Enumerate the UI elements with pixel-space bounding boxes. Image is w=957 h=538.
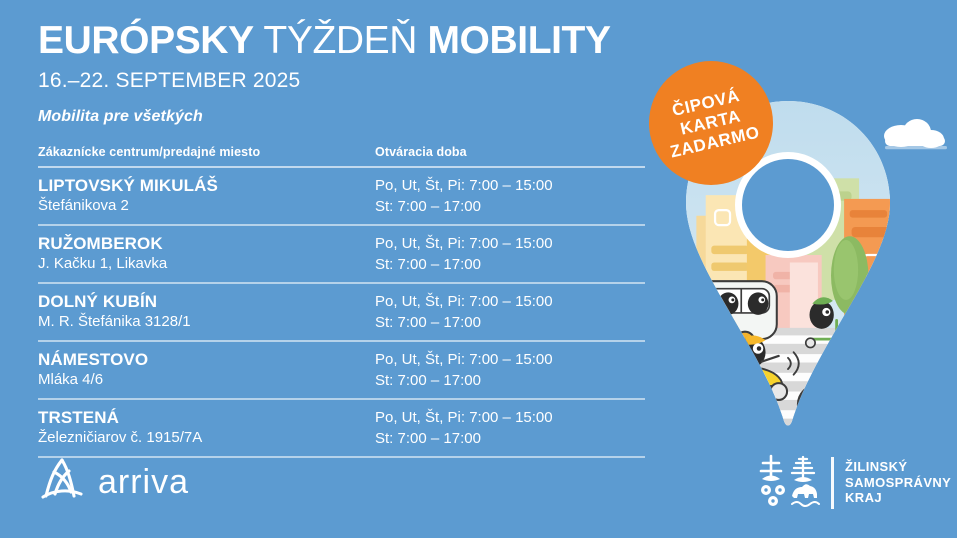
location-address: Štefánikova 2 [38,196,375,216]
zsk-wordmark: ŽILINSKÝ SAMOSPRÁVNY KRAJ [845,459,951,506]
location-name: NÁMESTOVO [38,349,375,370]
hours-cell: Po, Ut, Št, Pi: 7:00 – 15:00St: 7:00 – 1… [375,291,645,333]
arriva-mark-icon [38,456,86,507]
title-part-1: EURÓPSKY [38,19,254,62]
location-cell: LIPTOVSKÝ MIKULÁŠŠtefánikova 2 [38,175,375,217]
location-cell: RUŽOMBEROKJ. Kačku 1, Likavka [38,233,375,275]
table-row: RUŽOMBEROKJ. Kačku 1, LikavkaPo, Ut, Št,… [38,226,645,282]
location-address: Železničiarov č. 1915/7A [38,428,375,448]
location-cell: DOLNÝ KUBÍNM. R. Štefánika 3128/1 [38,291,375,333]
hours-weekday: Po, Ut, Št, Pi: 7:00 – 15:00 [375,233,645,254]
column-header-location: Zákaznícke centrum/predajné miesto [38,145,375,159]
location-name: DOLNÝ KUBÍN [38,291,375,312]
zsk-line-1: ŽILINSKÝ [845,459,951,475]
zsk-line-2: SAMOSPRÁVNY [845,475,951,491]
arriva-logo: arriva [38,456,189,507]
column-header-hours: Otváracia doba [375,145,645,159]
title-part-3: MOBILITY [427,19,610,62]
event-dates: 16.–22. SEPTEMBER 2025 [38,68,653,94]
title-part-2: TÝŽDEŇ [263,19,417,62]
table-header-row: Zákaznícke centrum/predajné miesto Otvár… [38,145,645,166]
hours-wednesday: St: 7:00 – 17:00 [375,312,645,333]
content-column: EURÓPSKY TÝŽDEŇ MOBILITY 16.–22. SEPTEMB… [38,18,653,458]
location-address: Mláka 4/6 [38,370,375,390]
location-cell: TRSTENÁŽelezničiarov č. 1915/7A [38,407,375,449]
hours-weekday: Po, Ut, Št, Pi: 7:00 – 15:00 [375,407,645,428]
table-row: TRSTENÁŽelezničiarov č. 1915/7APo, Ut, Š… [38,400,645,456]
hours-cell: Po, Ut, Št, Pi: 7:00 – 15:00St: 7:00 – 1… [375,407,645,449]
hours-cell: Po, Ut, Št, Pi: 7:00 – 15:00St: 7:00 – 1… [375,175,645,217]
location-name: TRSTENÁ [38,407,375,428]
hours-cell: Po, Ut, Št, Pi: 7:00 – 15:00St: 7:00 – 1… [375,349,645,391]
page-title: EURÓPSKY TÝŽDEŇ MOBILITY [38,18,653,64]
pedestrian-icon [694,370,752,433]
free-chip-card-badge: ČIPOVÁ KARTA ZADARMO [649,61,773,185]
zsk-line-3: KRAJ [845,490,951,506]
location-address: M. R. Štefánika 3128/1 [38,312,375,332]
hours-weekday: Po, Ut, Št, Pi: 7:00 – 15:00 [375,291,645,312]
event-claim: Mobilita pre všetkých [38,107,653,127]
locations-table: Zákaznícke centrum/predajné miesto Otvár… [38,145,645,458]
zsk-divider [831,457,834,509]
location-cell: NÁMESTOVOMláka 4/6 [38,349,375,391]
location-name: RUŽOMBEROK [38,233,375,254]
hours-cell: Po, Ut, Št, Pi: 7:00 – 15:00St: 7:00 – 1… [375,233,645,275]
location-address: J. Kačku 1, Likavka [38,254,375,274]
hours-wednesday: St: 7:00 – 17:00 [375,196,645,217]
arriva-wordmark: arriva [98,465,189,499]
hours-wednesday: St: 7:00 – 17:00 [375,370,645,391]
hours-weekday: Po, Ut, Št, Pi: 7:00 – 15:00 [375,349,645,370]
zilinsky-kraj-logo: ŽILINSKÝ SAMOSPRÁVNY KRAJ [758,452,951,513]
table-row: DOLNÝ KUBÍNM. R. Štefánika 3128/1Po, Ut,… [38,284,645,340]
hours-weekday: Po, Ut, Št, Pi: 7:00 – 15:00 [375,175,645,196]
table-row: LIPTOVSKÝ MIKULÁŠŠtefánikova 2Po, Ut, Št… [38,168,645,224]
poster-canvas: ČIPOVÁ KARTA ZADARMO EURÓPSKY TÝŽDEŇ MOB… [0,0,957,538]
table-row: NÁMESTOVOMláka 4/6Po, Ut, Št, Pi: 7:00 –… [38,342,645,398]
hours-wednesday: St: 7:00 – 17:00 [375,428,645,449]
location-name: LIPTOVSKÝ MIKULÁŠ [38,175,375,196]
hours-wednesday: St: 7:00 – 17:00 [375,254,645,275]
zsk-coat-of-arms-icon [758,452,820,513]
